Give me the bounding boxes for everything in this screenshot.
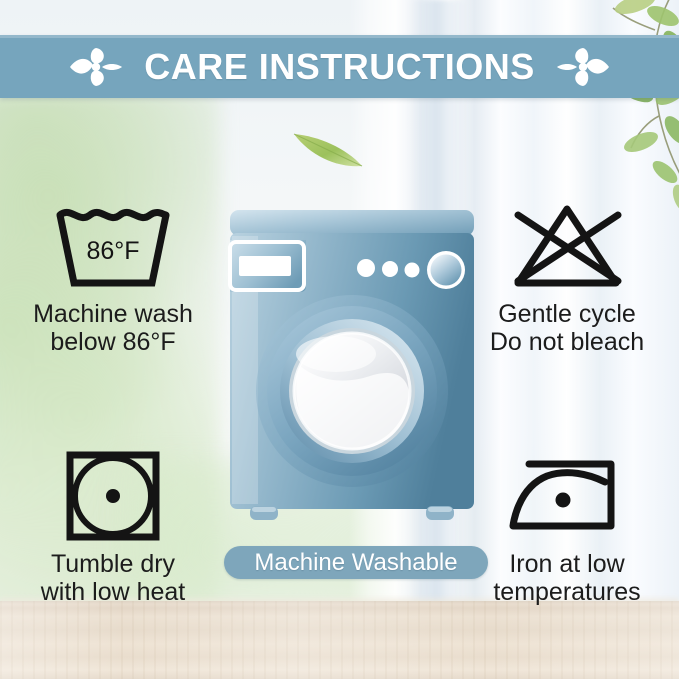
care-symbol-wash: 86°F Machine wash below 86°F <box>8 200 218 356</box>
iron-low-temperature-icon <box>505 452 629 540</box>
header-banner: CARE INSTRUCTIONS <box>0 35 679 98</box>
care-symbol-bleach-caption: Gentle cycle Do not bleach <box>462 300 672 356</box>
machine-washable-badge: Machine Washable <box>224 546 488 579</box>
care-symbol-iron: Iron at low temperatures <box>462 450 672 606</box>
iron-icon-wrapper <box>462 450 672 542</box>
leaf-branch-icon <box>555 0 679 220</box>
tumble-dry-icon-wrapper <box>8 450 218 542</box>
wash-tub-icon: 86°F <box>54 203 172 289</box>
wooden-table-surface <box>0 601 679 679</box>
care-instructions-infographic: CARE INSTRUCTIONS <box>0 0 679 679</box>
care-symbol-tumble-dry: Tumble dry with low heat <box>8 450 218 606</box>
floating-leaf-icon <box>288 122 372 178</box>
care-symbol-iron-caption: Iron at low temperatures <box>462 550 672 606</box>
do-not-bleach-icon-wrapper <box>462 200 672 292</box>
washing-machine-illustration <box>228 206 476 536</box>
care-symbol-tumble-dry-caption: Tumble dry with low heat <box>8 550 218 606</box>
page-title: CARE INSTRUCTIONS <box>144 49 535 85</box>
fleur-de-lis-ornament-left-icon <box>68 45 126 89</box>
do-not-bleach-triangle-icon <box>508 203 626 289</box>
care-symbol-bleach: Gentle cycle Do not bleach <box>462 200 672 356</box>
wash-tub-icon-wrapper: 86°F <box>8 200 218 292</box>
machine-washable-badge-label: Machine Washable <box>254 551 457 575</box>
care-symbol-wash-caption: Machine wash below 86°F <box>8 300 218 356</box>
tumble-dry-low-icon <box>63 448 163 544</box>
wash-temperature-value: 86°F <box>86 237 139 265</box>
fleur-de-lis-ornament-right-icon <box>553 45 611 89</box>
